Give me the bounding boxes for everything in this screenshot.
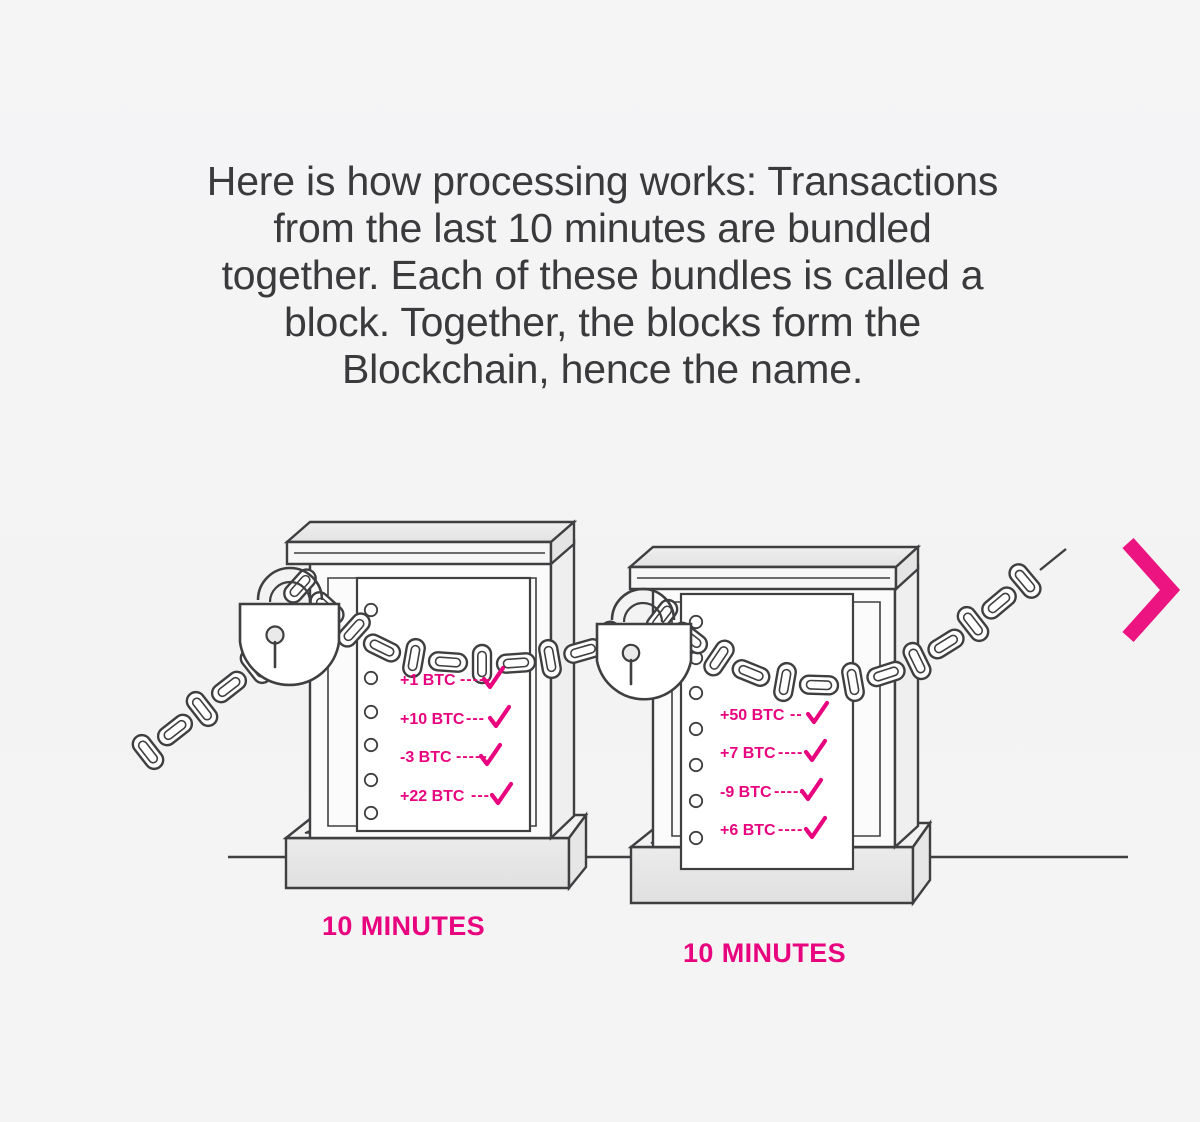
transaction-leader: ---- (778, 744, 803, 761)
transaction-leader: -- (790, 706, 803, 723)
transaction-amount: +7 BTC (720, 745, 776, 762)
slide-root: Here is how processing works: Transactio… (0, 0, 1200, 1122)
transaction-amount: +1 BTC (400, 672, 456, 689)
block-1-duration-label: 10 MINUTES (322, 911, 485, 942)
transaction-amount: +6 BTC (720, 822, 776, 839)
chevron-right-icon[interactable] (1118, 535, 1180, 645)
blockchain-illustration: +1 BTC ----- +10 BTC --- -3 BTC ----- +2… (0, 0, 1200, 1122)
transaction-row: -3 BTC ----- (400, 745, 500, 766)
transaction-amount: -3 BTC (400, 749, 452, 766)
transaction-leader: --- (466, 710, 485, 727)
block-2-safe[interactable] (630, 547, 930, 903)
block-1-lid (287, 522, 574, 564)
block-1-safe[interactable] (286, 522, 586, 888)
transaction-amount: +22 BTC (400, 788, 465, 805)
transaction-leader: --- (471, 787, 490, 804)
block-2-duration-label: 10 MINUTES (683, 938, 846, 969)
transaction-amount: -9 BTC (720, 784, 772, 801)
transaction-amount: +50 BTC (720, 707, 785, 724)
transaction-row: +1 BTC ----- (400, 668, 503, 689)
next-arrow-button[interactable] (1118, 535, 1180, 645)
transaction-leader: ---- (778, 821, 803, 838)
transaction-amount: +10 BTC (400, 711, 465, 728)
block-2-lid (630, 547, 918, 589)
